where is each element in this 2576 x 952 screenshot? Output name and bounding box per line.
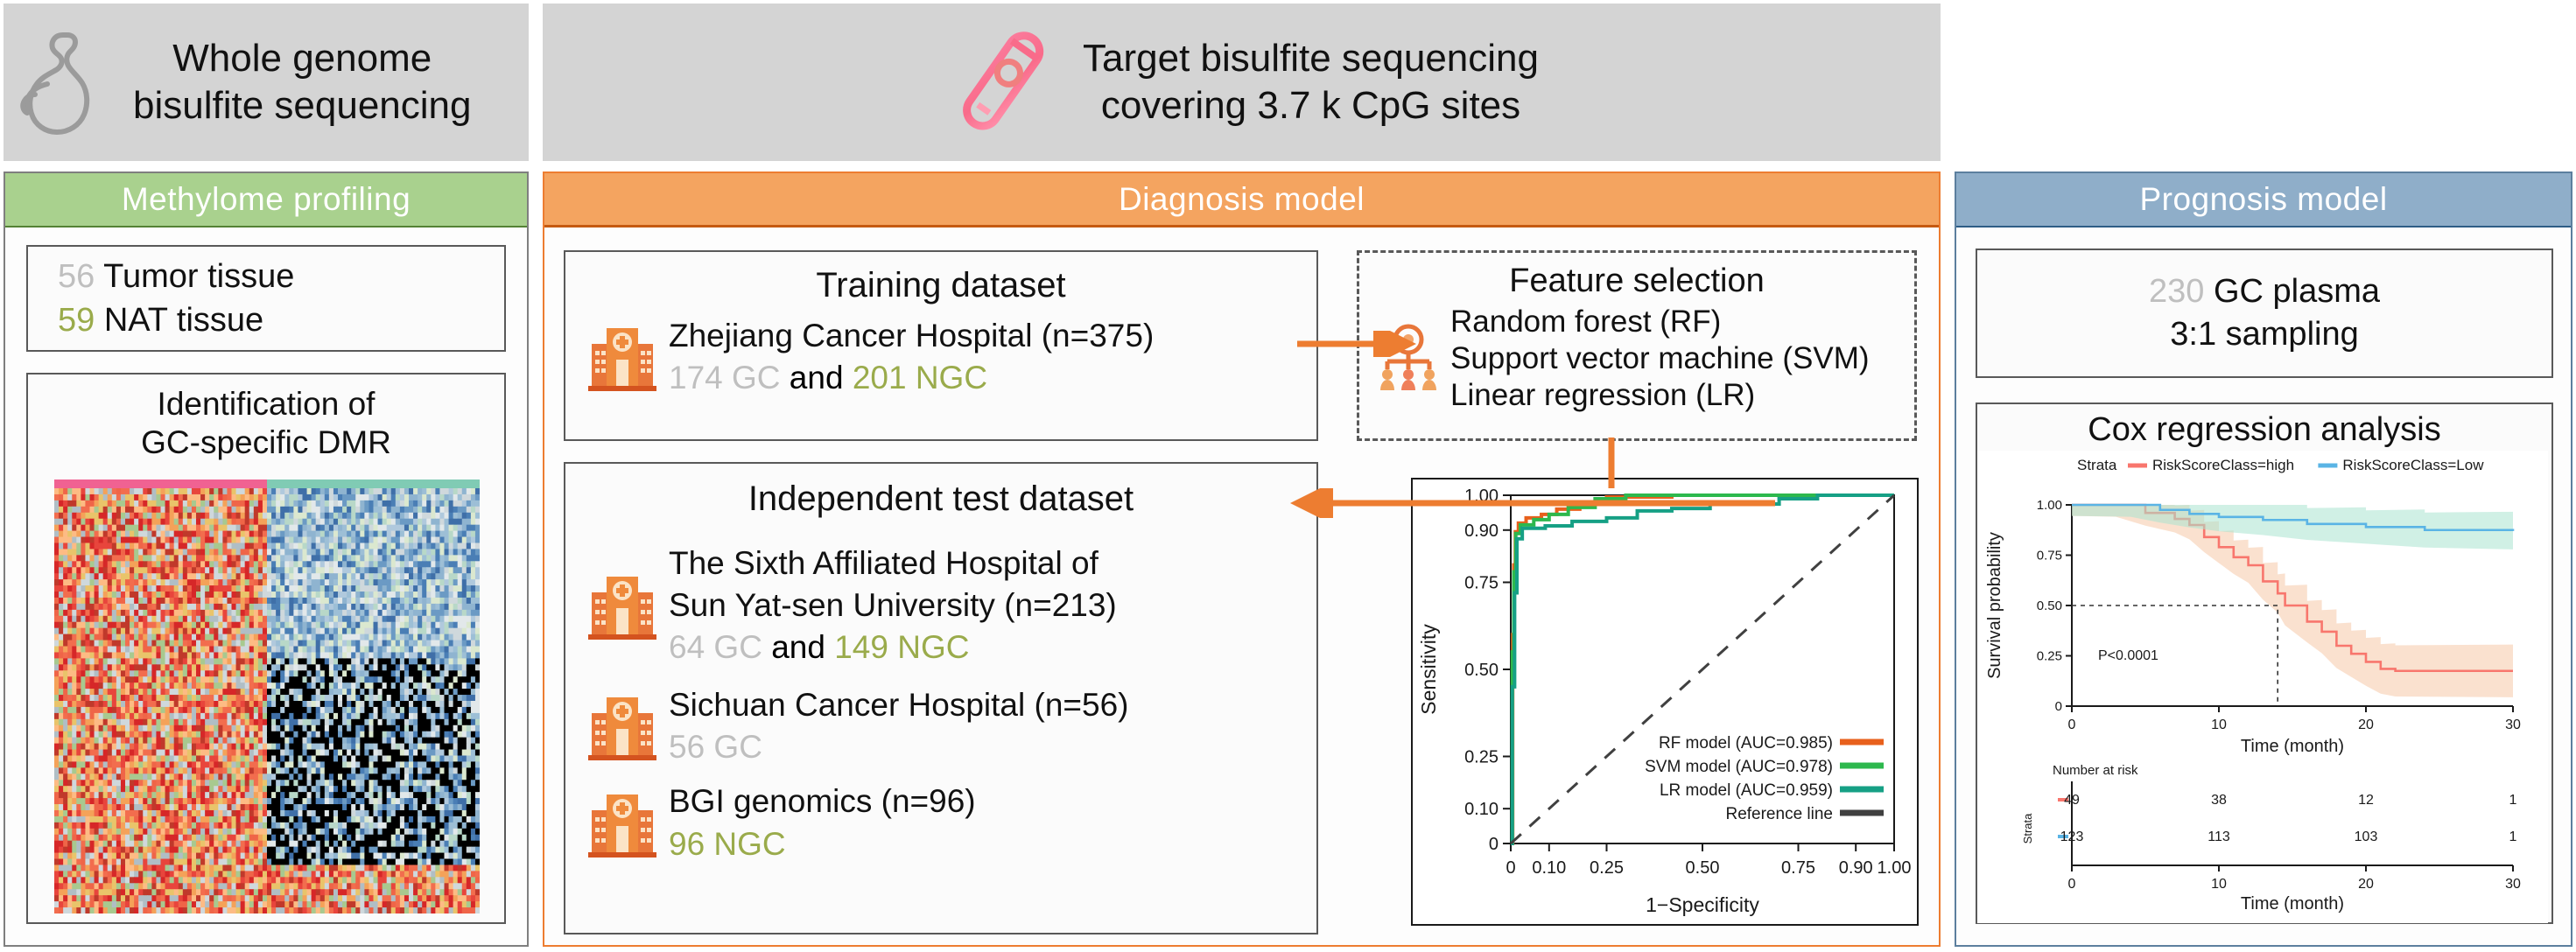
plasma-counts-card: 230 GC plasma 3:1 sampling bbox=[1976, 248, 2553, 378]
tumor-tissue-count: 56 bbox=[58, 258, 95, 295]
test-site-ngc-count: 149 NGC bbox=[834, 629, 969, 665]
test-site-text: Sichuan Cancer Hospital (n=56) 56 GC bbox=[669, 684, 1128, 768]
panel-diagnosis-model: Diagnosis model Training dataset bbox=[543, 171, 1941, 947]
hospital-icon bbox=[588, 570, 656, 641]
dmr-title-line2: GC-specific DMR bbox=[28, 423, 504, 462]
plasma-label: GC plasma bbox=[2214, 273, 2380, 310]
test-site-text: The Sixth Affiliated Hospital of Sun Yat… bbox=[669, 542, 1117, 668]
nat-tissue-count: 59 bbox=[58, 302, 95, 339]
km-survival-chart: StrataRiskScoreClass=highRiskScoreClass=… bbox=[1977, 451, 2548, 923]
cox-regression-card: Cox regression analysis StrataRiskScoreC… bbox=[1976, 402, 2553, 924]
training-site-text: Zhejiang Cancer Hospital (n=375) 174 GC … bbox=[669, 315, 1154, 399]
training-dataset-card: Training dataset bbox=[564, 250, 1318, 441]
feature-selection-title: Feature selection bbox=[1359, 262, 1914, 302]
plasma-sampling: 3:1 sampling bbox=[2170, 313, 2358, 356]
training-dataset-title: Training dataset bbox=[565, 264, 1316, 306]
test-site-row: BGI genomics (n=96) 96 NGC bbox=[565, 780, 1316, 864]
header-wgbs-line1: Whole genome bbox=[133, 35, 471, 82]
figure-root: Whole genome bisulfite sequencing Target… bbox=[0, 0, 2576, 952]
cox-title: Cox regression analysis bbox=[1977, 411, 2551, 449]
nat-tissue-label: NAT tissue bbox=[104, 302, 263, 339]
test-tube-icon bbox=[944, 17, 1060, 148]
test-site-name-line2: Sun Yat-sen University (n=213) bbox=[669, 584, 1117, 626]
panel-title-diagnosis: Diagnosis model bbox=[544, 173, 1939, 227]
arrow-training-to-feature bbox=[1295, 331, 1418, 357]
test-site-row: Sichuan Cancer Hospital (n=56) 56 GC bbox=[565, 684, 1316, 768]
tumor-tissue-label: Tumor tissue bbox=[103, 258, 294, 295]
test-dataset-title: Independent test dataset bbox=[565, 478, 1316, 520]
header-tbs-line2: covering 3.7 k CpG sites bbox=[1083, 82, 1539, 129]
hospital-icon bbox=[588, 690, 656, 762]
tissue-counts-card: 56 Tumor tissue 59 NAT tissue bbox=[26, 245, 506, 352]
panel-title-prognosis: Prognosis model bbox=[1956, 173, 2571, 227]
feature-method-rf: Random forest (RF) bbox=[1450, 304, 1870, 340]
header-tbs-line1: Target bisulfite sequencing bbox=[1083, 35, 1539, 82]
panel-title-methylome: Methylome profiling bbox=[5, 173, 527, 227]
panel-prognosis-model: Prognosis model 230 GC plasma 3:1 sampli… bbox=[1955, 171, 2572, 947]
feature-methods-row: Random forest (RF) Support vector machin… bbox=[1359, 304, 1914, 414]
header-wgbs-text: Whole genome bisulfite sequencing bbox=[133, 35, 471, 129]
test-site-text: BGI genomics (n=96) 96 NGC bbox=[669, 780, 976, 864]
test-site-counts: 64 GC and 149 NGC bbox=[669, 626, 1117, 668]
training-ngc-count: 201 NGC bbox=[853, 360, 987, 395]
training-hospital-name: Zhejiang Cancer Hospital (n=375) bbox=[669, 315, 1154, 357]
dmr-card: Identification of GC-specific DMR bbox=[26, 373, 506, 924]
header-tbs-text: Target bisulfite sequencing covering 3.7… bbox=[1083, 35, 1539, 129]
training-site-row: Zhejiang Cancer Hospital (n=375) 174 GC … bbox=[565, 315, 1316, 399]
plasma-count: 230 bbox=[2149, 273, 2204, 310]
panel-methylome-profiling: Methylome profiling 56 Tumor tissue 59 N… bbox=[4, 171, 529, 947]
header-wgbs-line2: bisulfite sequencing bbox=[133, 82, 471, 129]
tissue-row: 56 Tumor tissue bbox=[58, 255, 504, 298]
training-counts: 174 GC and 201 NGC bbox=[669, 357, 1154, 399]
feature-methods-list: Random forest (RF) Support vector machin… bbox=[1450, 304, 1870, 414]
arrow-feature-down-connector bbox=[1598, 437, 1625, 493]
feature-selection-card: Feature selection Random forest (RF) Sup… bbox=[1357, 250, 1917, 441]
roc-curve-chart: 00.100.250.500.750.901.0000.100.250.500.… bbox=[1411, 478, 1919, 926]
test-site-name-line1: BGI genomics (n=96) bbox=[669, 780, 976, 822]
test-site-name-line1: Sichuan Cancer Hospital (n=56) bbox=[669, 684, 1128, 726]
feature-method-lr: Linear regression (LR) bbox=[1450, 377, 1870, 414]
test-site-ngc-count: 96 NGC bbox=[669, 823, 976, 865]
stomach-icon bbox=[12, 26, 117, 138]
hospital-icon bbox=[588, 787, 656, 859]
tissue-row: 59 NAT tissue bbox=[58, 298, 504, 342]
dmr-heatmap bbox=[54, 479, 480, 913]
training-conjunction: and bbox=[781, 360, 853, 395]
dmr-title-line1: Identification of bbox=[28, 385, 504, 423]
hospital-icon bbox=[588, 321, 656, 393]
header-tbs: Target bisulfite sequencing covering 3.7… bbox=[543, 3, 1941, 161]
plasma-row: 230 GC plasma bbox=[2149, 270, 2380, 313]
test-site-row: The Sixth Affiliated Hospital of Sun Yat… bbox=[565, 542, 1316, 668]
training-gc-count: 174 GC bbox=[669, 360, 781, 395]
feature-method-svm: Support vector machine (SVM) bbox=[1450, 340, 1870, 377]
test-site-gc-count: 64 GC bbox=[669, 629, 762, 665]
header-wgbs: Whole genome bisulfite sequencing bbox=[4, 3, 529, 161]
test-site-name-line1: The Sixth Affiliated Hospital of bbox=[669, 542, 1117, 584]
test-dataset-card: Independent test dataset bbox=[564, 462, 1318, 934]
arrow-feature-to-test bbox=[1287, 488, 1777, 518]
test-site-conjunction: and bbox=[762, 629, 834, 665]
test-site-gc-count: 56 GC bbox=[669, 726, 1128, 768]
